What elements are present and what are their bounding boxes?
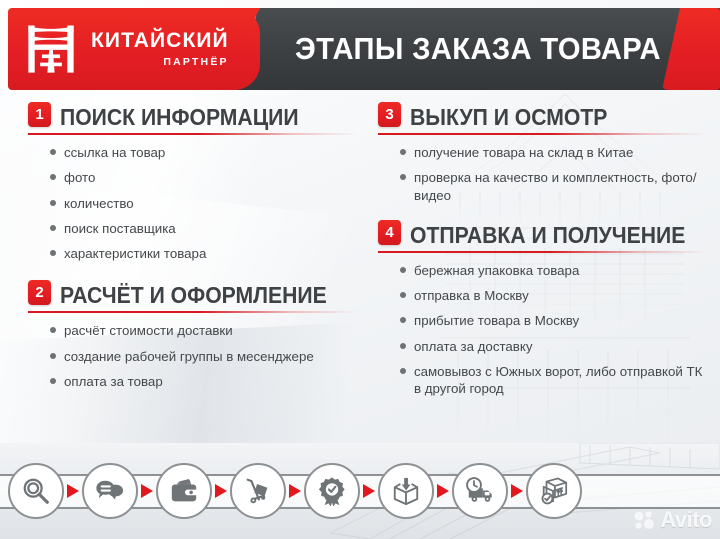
list-item: оплата за товар [50,373,358,390]
list-item: расчёт стоимости доставки [50,322,358,339]
section-title: ПОИСК ИНФОРМАЦИИ [60,106,299,129]
delivery-truck-clock-icon [465,476,495,506]
wallet-icon [169,476,199,506]
list-item: самовывоз с Южных ворот, либо отправкой … [400,363,708,398]
section-number-badge: 2 [28,280,51,305]
section-header: 1 ПОИСК ИНФОРМАЦИИ [28,104,358,129]
process-step[interactable] [156,463,212,519]
list-item: количество [50,195,358,212]
avito-logo-icon [634,510,656,530]
brand-logo[interactable]: КИТАЙСКИЙ ПАРТНЁР [22,20,229,78]
torii-gate-icon [22,20,80,78]
column-right: 3 ВЫКУП И ОСМОТР получение товара на скл… [378,104,708,412]
section-rule [378,251,708,253]
section-title: ОТПРАВКА И ПОЛУЧЕНИЕ [410,224,685,247]
section-rule [28,133,358,135]
list-item: проверка на качество и комплектность, фо… [400,169,708,204]
process-step[interactable] [526,463,582,519]
section-title: ВЫКУП И ОСМОТР [410,106,607,129]
list-item: характеристики товара [50,245,358,262]
box-packing-icon [391,476,421,506]
logo-sub-text: ПАРТНЁР [91,57,229,68]
list-item: фото [50,169,358,186]
list-item: оплата за доставку [400,338,708,355]
process-step[interactable] [452,463,508,519]
process-step[interactable] [378,463,434,519]
list-item: получение товара на склад в Китае [400,144,708,161]
section-number-badge: 4 [378,220,401,245]
chain-arrow-icon [286,482,304,500]
infographic-poster: ЭТАПЫ ЗАКАЗА ТОВАРА КИТАЙСКИЙ П [0,0,720,539]
section-4: 4 ОТПРАВКА И ПОЛУЧЕНИЕ бережная упаковка… [378,222,708,398]
page-title: ЭТАПЫ ЗАКАЗА ТОВАРА [251,8,706,90]
list-item: бережная упаковка товара [400,262,708,279]
process-step[interactable] [82,463,138,519]
section-header: 2 РАСЧЁТ И ОФОРМЛЕНИЕ [28,282,358,307]
section-item-list: ссылка на товар фото количество поиск по… [28,144,358,262]
section-rule [378,133,708,135]
section-number-badge: 3 [378,102,401,127]
section-item-list: бережная упаковка товара отправка в Моск… [378,262,708,398]
hand-truck-icon [243,476,273,506]
section-item-list: получение товара на склад в Китае провер… [378,144,708,204]
header: ЭТАПЫ ЗАКАЗА ТОВАРА КИТАЙСКИЙ П [0,8,720,90]
header-dark-banner: ЭТАПЫ ЗАКАЗА ТОВАРА [236,8,720,90]
list-item: отправка в Москву [400,287,708,304]
avito-watermark-text: Avito [660,507,712,533]
list-item: поиск поставщика [50,220,358,237]
section-header: 3 ВЫКУП И ОСМОТР [378,104,708,129]
process-step[interactable] [230,463,286,519]
package-check-icon [539,476,569,506]
magnifier-icon [21,476,51,506]
logo-main-text: КИТАЙСКИЙ [91,30,229,51]
footer-process-strip: Avito [0,443,720,539]
list-item: прибытие товара в Москву [400,312,708,329]
chain-arrow-icon [434,482,452,500]
chain-arrow-icon [360,482,378,500]
section-title: РАСЧЁТ И ОФОРМЛЕНИЕ [60,284,327,307]
quality-badge-icon [317,476,347,506]
chain-arrow-icon [508,482,526,500]
chain-arrow-icon [212,482,230,500]
column-left: 1 ПОИСК ИНФОРМАЦИИ ссылка на товар фото … [28,104,358,404]
chain-arrow-icon [64,482,82,500]
avito-watermark: Avito [634,507,712,533]
process-step[interactable] [8,463,64,519]
chat-bubbles-icon [95,476,125,506]
chain-arrow-icon [138,482,156,500]
section-1: 1 ПОИСК ИНФОРМАЦИИ ссылка на товар фото … [28,104,358,262]
section-header: 4 ОТПРАВКА И ПОЛУЧЕНИЕ [378,222,708,247]
section-number-badge: 1 [28,102,51,127]
process-chain [0,443,720,539]
section-rule [28,311,358,313]
section-2: 2 РАСЧЁТ И ОФОРМЛЕНИЕ расчёт стоимости д… [28,282,358,390]
list-item: ссылка на товар [50,144,358,161]
section-item-list: расчёт стоимости доставки создание рабоч… [28,322,358,390]
process-step[interactable] [304,463,360,519]
section-3: 3 ВЫКУП И ОСМОТР получение товара на скл… [378,104,708,204]
list-item: создание рабочей группы в месенджере [50,348,358,365]
